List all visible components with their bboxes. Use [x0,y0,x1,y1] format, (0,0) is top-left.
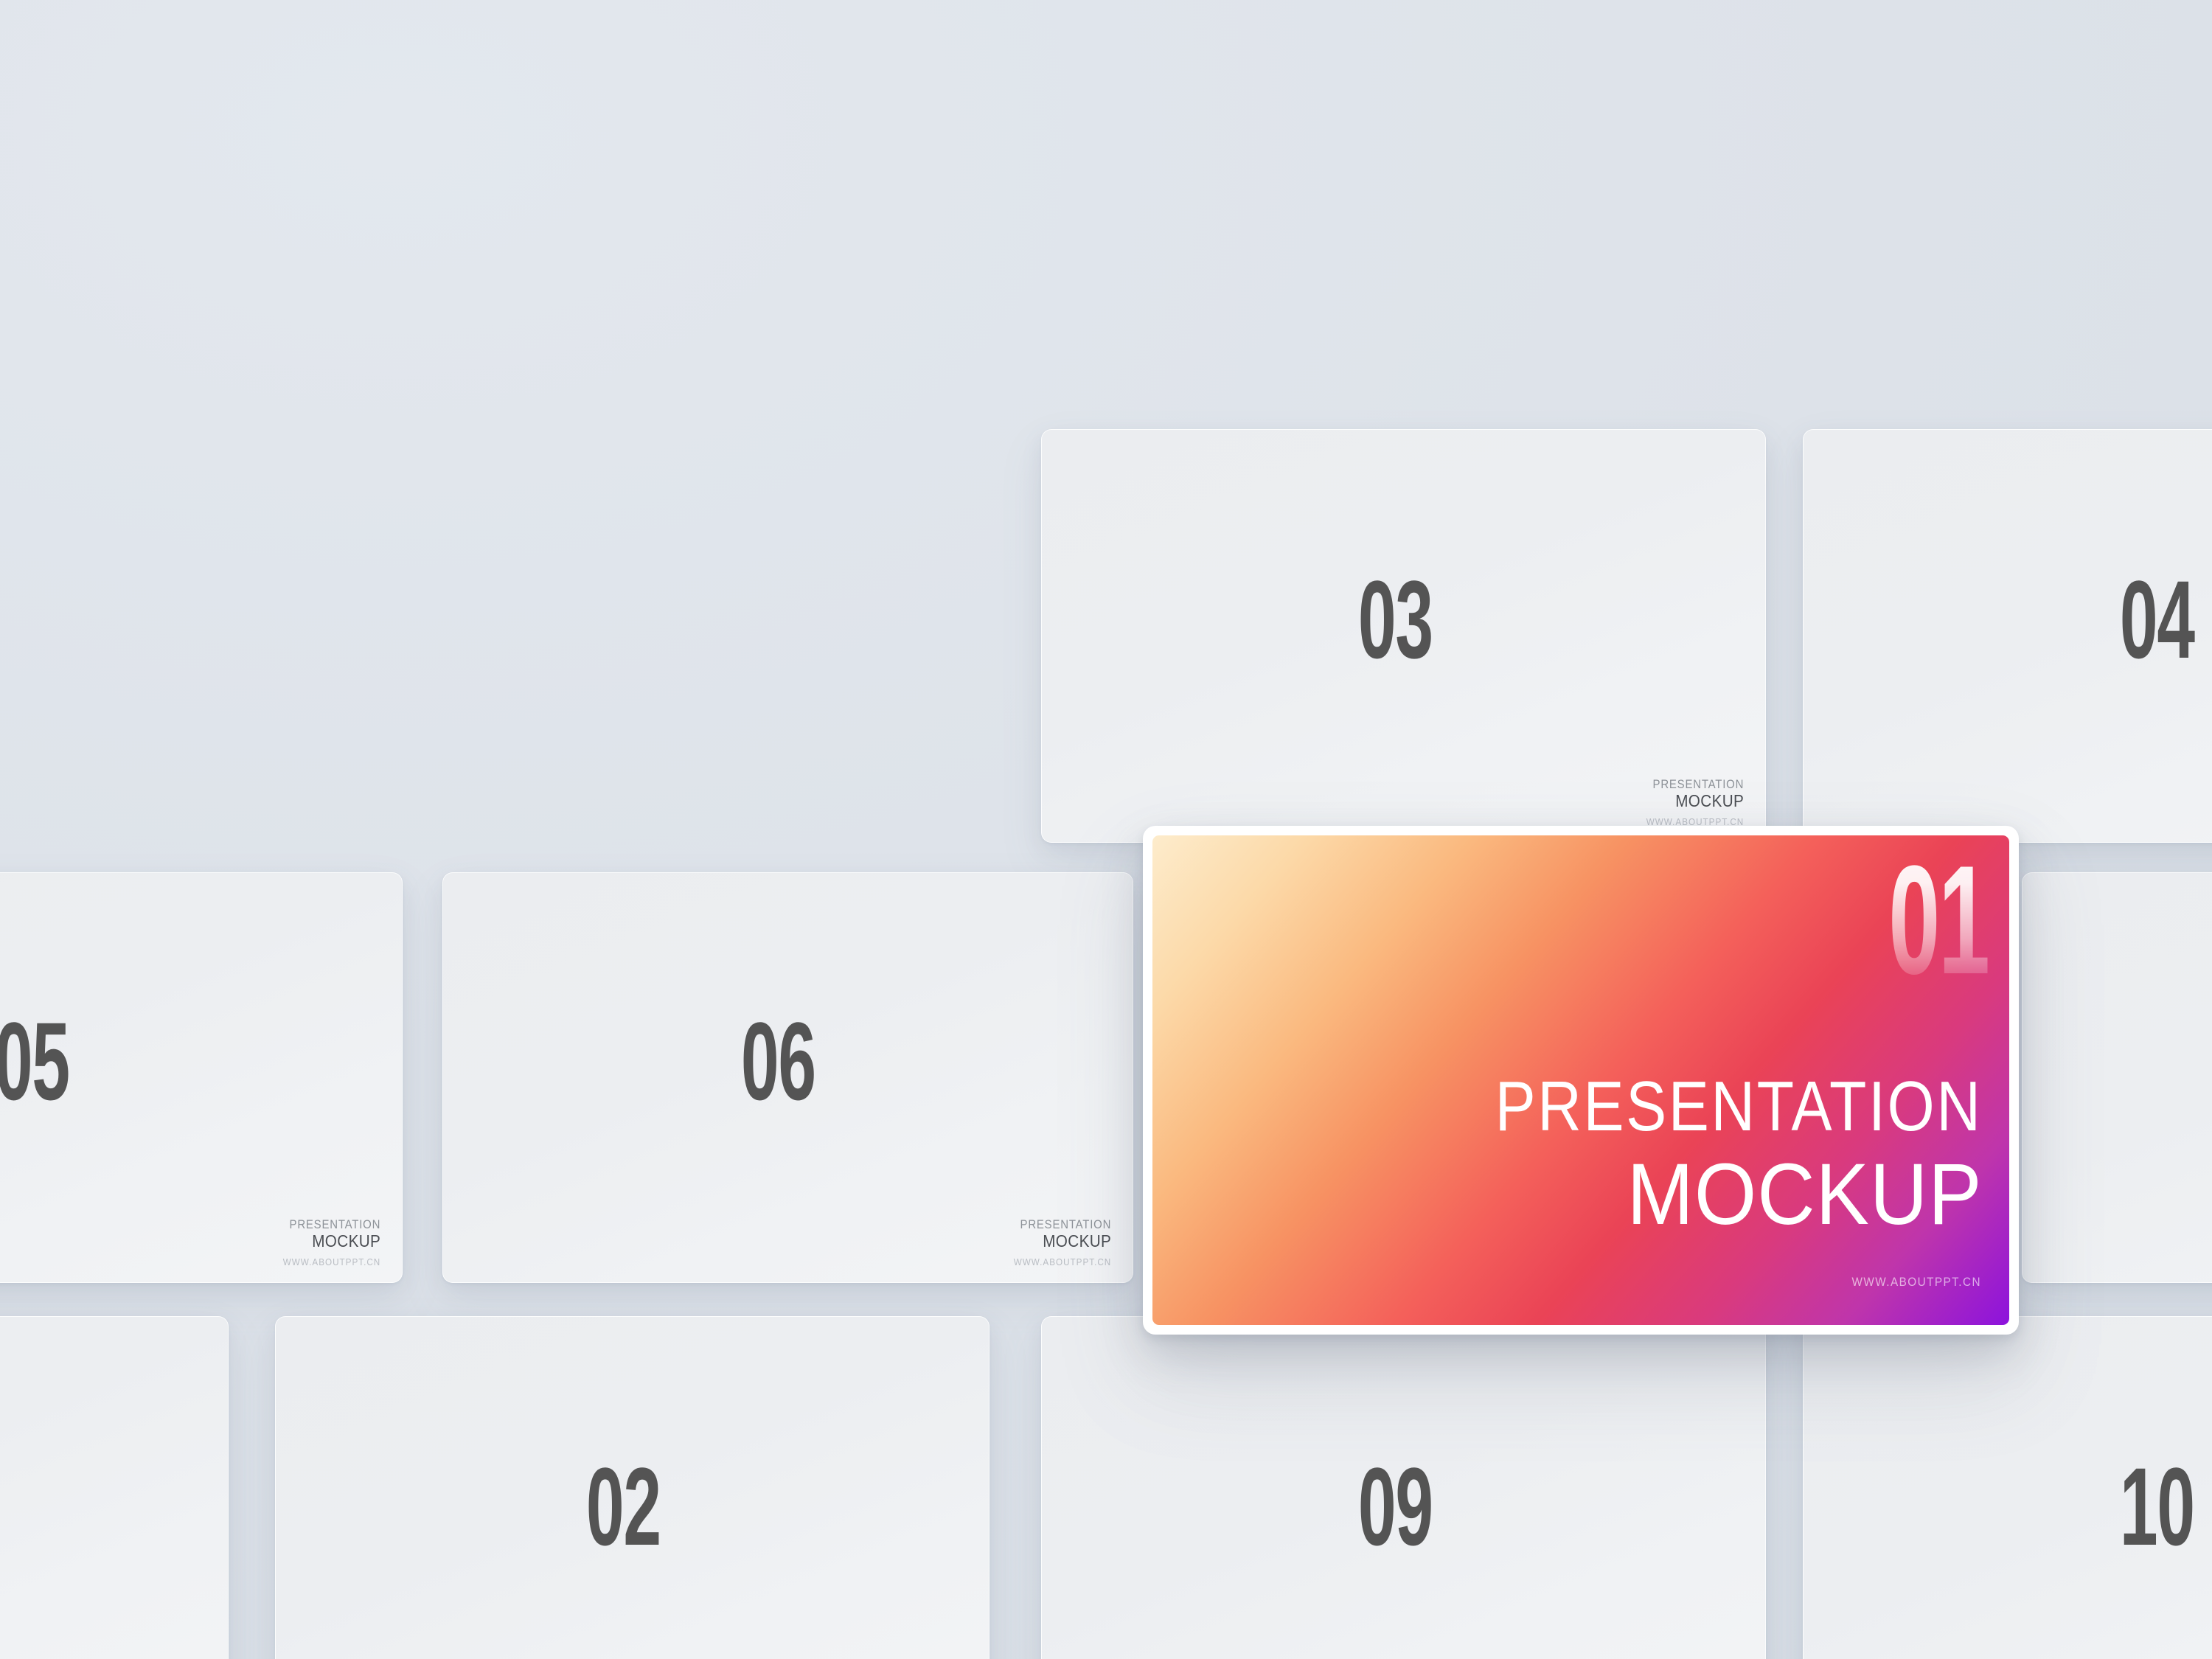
slide-card-05[interactable]: 05 PRESENTATION MOCKUP WWW.ABOUTPPT.CN [0,872,403,1283]
footer-presentation-label: PRESENTATION [1648,778,1744,790]
slide-number-02: 02 [586,1455,661,1557]
slide-number-03: 03 [1358,568,1433,670]
slide-card-06[interactable]: 06 PRESENTATION MOCKUP WWW.ABOUTPPT.CN [442,872,1133,1283]
slide-grid-stage: 03 PRESENTATION MOCKUP WWW.ABOUTPPT.CN 0… [0,0,2212,1659]
footer-presentation-label: PRESENTATION [285,1218,380,1231]
footer-presentation-label: PRESENTATION [1015,1218,1111,1231]
footer-url-label: WWW.ABOUTPPT.CN [283,1257,380,1267]
featured-slide-card-01[interactable]: 01 PRESENTATION MOCKUP WWW.ABOUTPPT.CN [1143,826,2019,1335]
featured-title-block: PRESENTATION MOCKUP [1416,1071,1983,1238]
footer-mockup-label: MOCKUP [283,1233,380,1250]
slide-number-05: 05 [0,1010,69,1112]
slide-card-07[interactable]: 07 PRESENTATION MOCKUP WWW.ABOUTPPT.CN [2022,872,2212,1283]
featured-card-gradient-surface: 01 PRESENTATION MOCKUP WWW.ABOUTPPT.CN [1152,835,2009,1325]
slide-footer-05: PRESENTATION MOCKUP WWW.ABOUTPPT.CN [272,1218,380,1267]
slide-number-09: 09 [1358,1455,1433,1557]
footer-url-label: WWW.ABOUTPPT.CN [1014,1257,1111,1267]
footer-mockup-label: MOCKUP [1014,1233,1111,1250]
slide-card-02[interactable]: 02 PRESENTATION MOCKUP WWW.ABOUTPPT.CN [275,1316,990,1659]
slide-number-04: 04 [2120,568,2194,670]
slide-number-10: 10 [2120,1455,2194,1557]
slide-number-06: 06 [741,1010,815,1112]
featured-presentation-label: PRESENTATION [1495,1071,1983,1142]
footer-mockup-label: MOCKUP [1646,793,1744,810]
slide-card-04[interactable]: 04 PRESENTATION MOCKUP WWW.ABOUTPPT.CN [1803,429,2212,843]
featured-url-label: WWW.ABOUTPPT.CN [1852,1275,1981,1290]
slide-card-10[interactable]: 10 PRESENTATION MOCKUP WWW.ABOUTPPT.CN [1803,1316,2212,1659]
slide-card-08[interactable]: 08 PRESENTATION MOCKUP WWW.ABOUTPPT.CN [0,1316,229,1659]
featured-mockup-label: MOCKUP [1461,1151,1983,1238]
slide-footer-03: PRESENTATION MOCKUP WWW.ABOUTPPT.CN [1635,778,1744,827]
slide-footer-06: PRESENTATION MOCKUP WWW.ABOUTPPT.CN [1003,1218,1111,1267]
slide-card-03[interactable]: 03 PRESENTATION MOCKUP WWW.ABOUTPPT.CN [1041,429,1766,843]
slide-card-09[interactable]: 09 PRESENTATION MOCKUP WWW.ABOUTPPT.CN [1041,1316,1766,1659]
featured-slide-number: 01 [1889,843,1989,998]
